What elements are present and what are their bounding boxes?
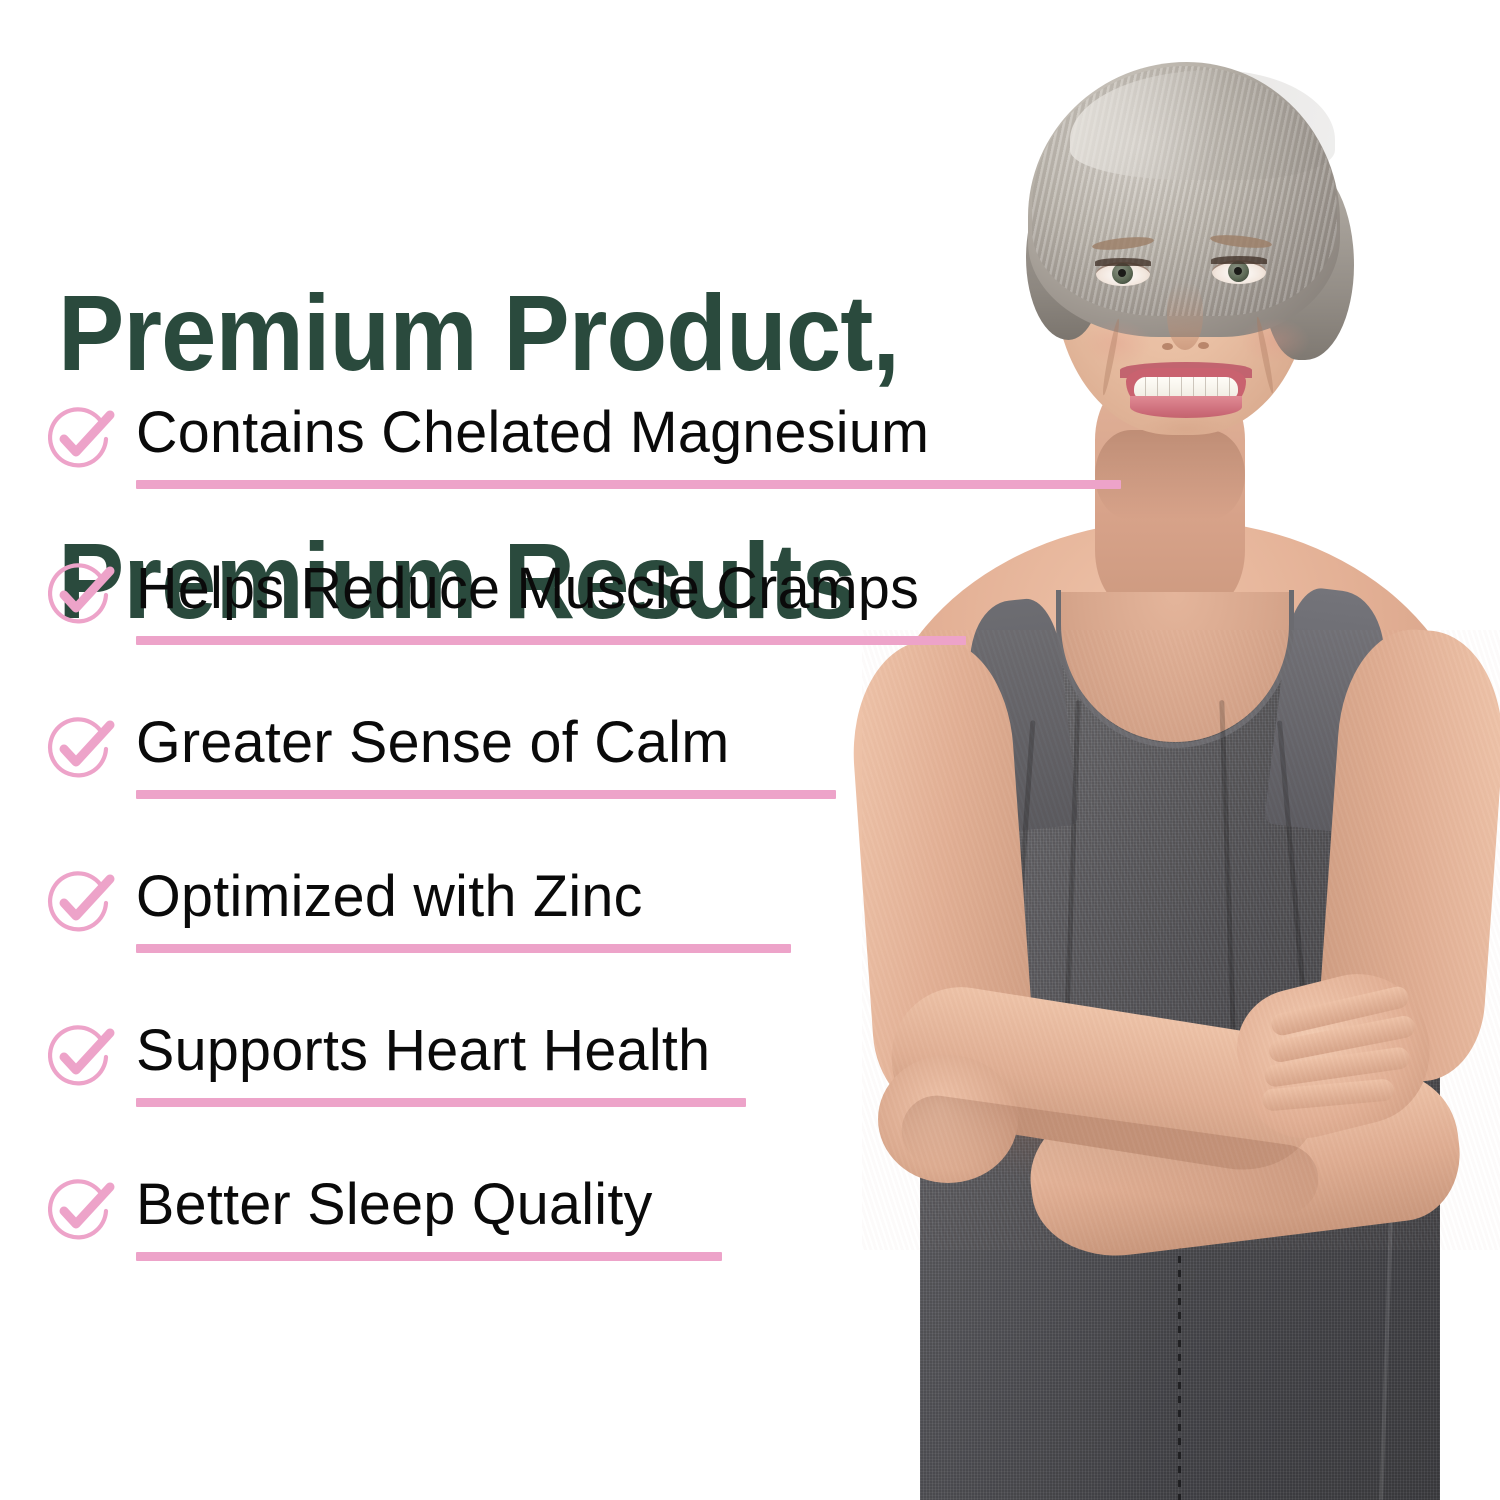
benefit-underline <box>136 1098 746 1107</box>
benefit-underline <box>136 944 791 953</box>
benefit-label: Supports Heart Health <box>136 1016 710 1086</box>
benefit-item-5: Better Sleep Quality <box>0 1176 1500 1286</box>
circle-check-icon <box>48 716 114 782</box>
product-benefit-card: Premium Product, Premium Results Contain… <box>0 0 1500 1500</box>
benefit-underline <box>136 480 1121 489</box>
benefit-item-4: Supports Heart Health <box>0 1022 1500 1132</box>
benefit-label: Optimized with Zinc <box>136 862 643 932</box>
circle-check-icon <box>48 1178 114 1244</box>
benefit-label: Helps Reduce Muscle Cramps <box>136 554 919 624</box>
circle-check-icon <box>48 1024 114 1090</box>
benefit-underline <box>136 636 966 645</box>
benefit-item-2: Greater Sense of Calm <box>0 714 1500 824</box>
benefit-label: Better Sleep Quality <box>136 1170 653 1240</box>
benefit-item-0: Contains Chelated Magnesium <box>0 404 1500 514</box>
benefit-underline <box>136 790 836 799</box>
benefit-item-1: Helps Reduce Muscle Cramps <box>0 560 1500 670</box>
circle-check-icon <box>48 406 114 472</box>
benefit-label: Greater Sense of Calm <box>136 708 729 778</box>
benefit-item-3: Optimized with Zinc <box>0 868 1500 978</box>
benefit-label: Contains Chelated Magnesium <box>136 398 929 468</box>
circle-check-icon <box>48 870 114 936</box>
benefit-list: Contains Chelated Magnesium Helps Reduce… <box>0 0 1500 1500</box>
circle-check-icon <box>48 562 114 628</box>
benefit-underline <box>136 1252 722 1261</box>
